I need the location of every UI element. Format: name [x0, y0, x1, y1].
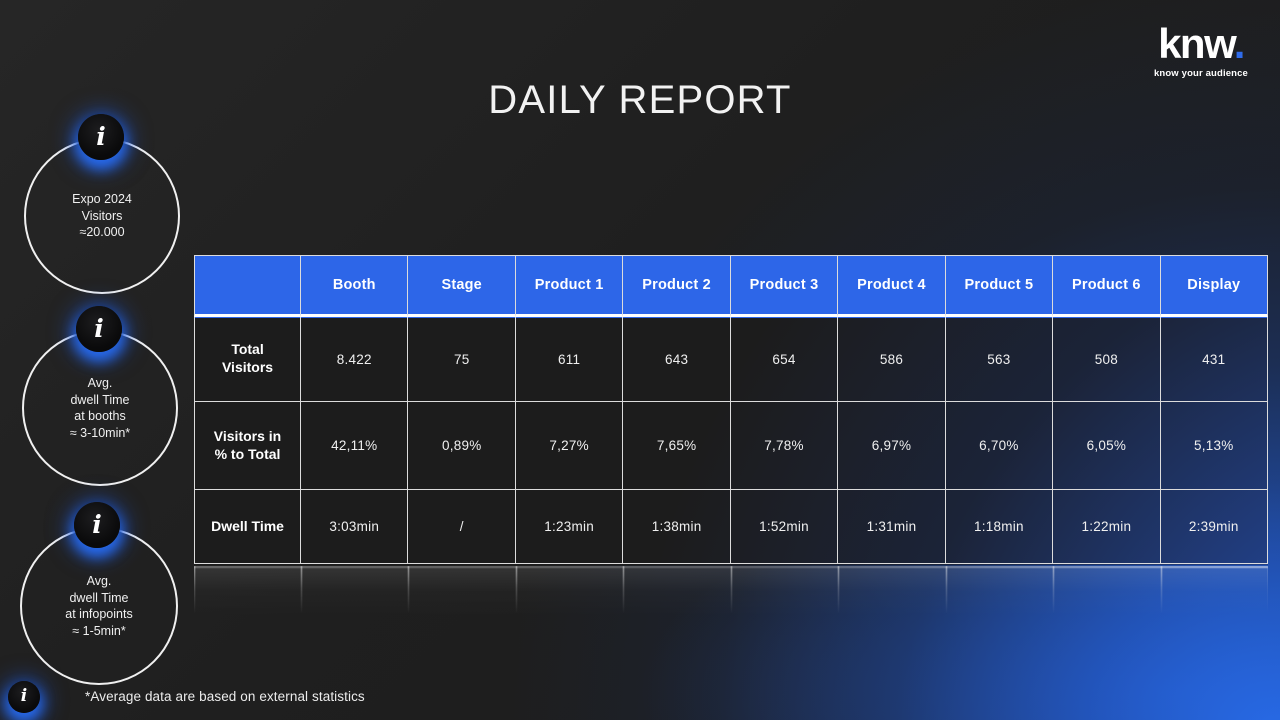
table-cell: 1:18min: [946, 490, 1053, 564]
table-cell: 6,70%: [946, 402, 1053, 490]
table-row: Visitors in % to Total42,11%0,89%7,27%7,…: [194, 402, 1268, 490]
report-table-container: BoothStageProduct 1Product 2Product 3Pro…: [194, 255, 1268, 564]
table-header-row: BoothStageProduct 1Product 2Product 3Pro…: [194, 255, 1268, 317]
table-cell: 654: [731, 317, 838, 402]
table-cell: 611: [516, 317, 623, 402]
table-column-header: Product 4: [838, 255, 945, 317]
table-cell: 508: [1053, 317, 1160, 402]
reflection-gridline: [1053, 566, 1054, 614]
table-column-header: Display: [1161, 255, 1268, 317]
info-bubble-visitors-text: Expo 2024 Visitors ≈20.000: [62, 191, 142, 241]
table-cell: 6,97%: [838, 402, 945, 490]
info-bubble-booth-dwell-text: Avg. dwell Time at booths ≈ 3-10min*: [60, 375, 140, 441]
report-slide: DAILY REPORT knw. know your audience Exp…: [0, 0, 1280, 720]
table-cell: 0,89%: [408, 402, 515, 490]
table-cell: 8.422: [301, 317, 408, 402]
table-column-header: Product 1: [516, 255, 623, 317]
table-cell: 7,65%: [623, 402, 730, 490]
logo-dot-icon: .: [1234, 20, 1244, 67]
table-column-header: Booth: [301, 255, 408, 317]
info-bubble-infopoint-dwell-text: Avg. dwell Time at infopoints ≈ 1-5min*: [55, 573, 142, 639]
table-head: BoothStageProduct 1Product 2Product 3Pro…: [194, 255, 1268, 317]
reflection-gridline: [516, 566, 517, 614]
reflection-gridline: [194, 566, 195, 614]
brand-logo: knw. know your audience: [1154, 24, 1248, 78]
table-cell: 1:38min: [623, 490, 730, 564]
table-body: Total Visitors8.422756116436545865635084…: [194, 317, 1268, 564]
table-cell: 1:31min: [838, 490, 945, 564]
table-cell: 1:22min: [1053, 490, 1160, 564]
table-reflection: [194, 566, 1268, 638]
table-cell: 431: [1161, 317, 1268, 402]
info-icon[interactable]: i: [78, 114, 124, 160]
logo-tagline: know your audience: [1154, 69, 1248, 79]
logo-wordmark: knw.: [1154, 24, 1248, 64]
footnote-text: *Average data are based on external stat…: [85, 689, 365, 704]
reflection-gridline: [946, 566, 947, 614]
table-cell: 1:52min: [731, 490, 838, 564]
table-cell: /: [408, 490, 515, 564]
info-icon-glyph: i: [92, 512, 102, 537]
table-cell: 42,11%: [301, 402, 408, 490]
table-cell: 1:23min: [516, 490, 623, 564]
table-cell: 563: [946, 317, 1053, 402]
info-icon-glyph: i: [94, 316, 104, 341]
info-icon[interactable]: i: [74, 502, 120, 548]
table-cell: 3:03min: [301, 490, 408, 564]
table-row-header: Total Visitors: [194, 317, 301, 402]
table-cell: 7,78%: [731, 402, 838, 490]
table-column-header: Product 3: [731, 255, 838, 317]
reflection-gridline: [301, 566, 302, 614]
reflection-gridline: [408, 566, 409, 614]
reflection-gridline: [838, 566, 839, 614]
table-cell: 2:39min: [1161, 490, 1268, 564]
table-row-header: Dwell Time: [194, 490, 301, 564]
info-icon[interactable]: i: [8, 681, 40, 713]
table-cell: 5,13%: [1161, 402, 1268, 490]
info-icon-glyph: i: [96, 124, 106, 149]
reflection-gridline: [623, 566, 624, 614]
report-table: BoothStageProduct 1Product 2Product 3Pro…: [194, 255, 1268, 564]
reflection-sheen: [194, 566, 1268, 638]
info-icon-glyph: i: [21, 688, 27, 705]
table-cell: 7,27%: [516, 402, 623, 490]
table-column-header: Product 5: [946, 255, 1053, 317]
info-bubble-infopoint-dwell: Avg. dwell Time at infopoints ≈ 1-5min*: [20, 527, 178, 685]
info-bubble-booth-dwell: Avg. dwell Time at booths ≈ 3-10min*: [22, 330, 178, 486]
reflection-topline: [194, 566, 1268, 568]
reflection-gridline: [731, 566, 732, 614]
table-column-header: Product 6: [1053, 255, 1160, 317]
table-cell: 586: [838, 317, 945, 402]
table-row: Total Visitors8.422756116436545865635084…: [194, 317, 1268, 402]
table-column-header: Stage: [408, 255, 515, 317]
table-row-header: Visitors in % to Total: [194, 402, 301, 490]
info-bubble-visitors: Expo 2024 Visitors ≈20.000: [24, 138, 180, 294]
page-title: DAILY REPORT: [0, 78, 1280, 123]
table-corner-cell: [194, 255, 301, 317]
reflection-gridline: [1161, 566, 1162, 614]
logo-text: knw: [1158, 20, 1234, 67]
table-column-header: Product 2: [623, 255, 730, 317]
table-cell: 75: [408, 317, 515, 402]
table-row: Dwell Time3:03min/1:23min1:38min1:52min1…: [194, 490, 1268, 564]
table-cell: 6,05%: [1053, 402, 1160, 490]
table-cell: 643: [623, 317, 730, 402]
info-icon[interactable]: i: [76, 306, 122, 352]
